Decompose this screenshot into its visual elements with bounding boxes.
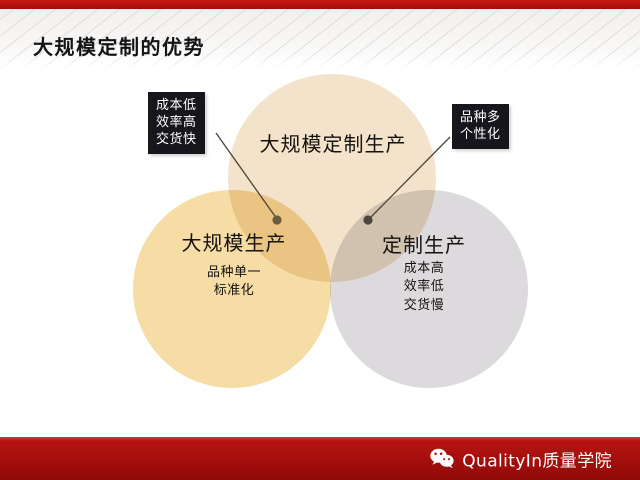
venn-heading-mass-production: 大规模生产 xyxy=(150,232,318,255)
footer-brand-text: QualityIn质量学院 xyxy=(462,446,612,471)
top-accent-bar xyxy=(0,0,640,9)
venn-sub-line: 效率低 xyxy=(340,278,508,296)
venn-label-mass-production: 大规模生产 品种单一 标准化 xyxy=(150,232,318,301)
venn-sub-mass-production: 品种单一 标准化 xyxy=(150,264,318,301)
wechat-icon xyxy=(429,448,455,470)
venn-label-mass-customization: 大规模定制生产 xyxy=(238,133,428,156)
callout-line: 交货快 xyxy=(156,131,197,148)
venn-sub-line: 交货慢 xyxy=(340,297,508,315)
slide-canvas: 大规模定制的优势 大规模定制生产 大规模生产 品种单一 标准化 定制生产 成本高… xyxy=(0,0,640,480)
callout-line: 成本低 xyxy=(156,97,197,114)
footer-brand-group: QualityIn质量学院 xyxy=(429,446,612,471)
venn-sub-line: 成本高 xyxy=(340,260,508,278)
venn-sub-line: 标准化 xyxy=(150,282,318,300)
venn-label-custom-production: 定制生产 成本高 效率低 交货慢 xyxy=(340,234,508,315)
venn-sub-custom-production: 成本高 效率低 交货慢 xyxy=(340,260,508,315)
callout-line: 效率高 xyxy=(156,114,197,131)
venn-heading-mass-customization: 大规模定制生产 xyxy=(238,133,428,156)
footer-bar: QualityIn质量学院 xyxy=(0,437,640,480)
callout-left: 成本低 效率高 交货快 xyxy=(148,92,205,154)
page-title: 大规模定制的优势 xyxy=(33,31,205,60)
venn-heading-custom-production: 定制生产 xyxy=(340,234,508,257)
footer-bar-highlight xyxy=(0,437,640,441)
callout-line: 品种多 xyxy=(460,109,501,126)
venn-sub-line: 品种单一 xyxy=(150,264,318,282)
callout-right: 品种多 个性化 xyxy=(452,104,509,149)
callout-line: 个性化 xyxy=(460,126,501,143)
